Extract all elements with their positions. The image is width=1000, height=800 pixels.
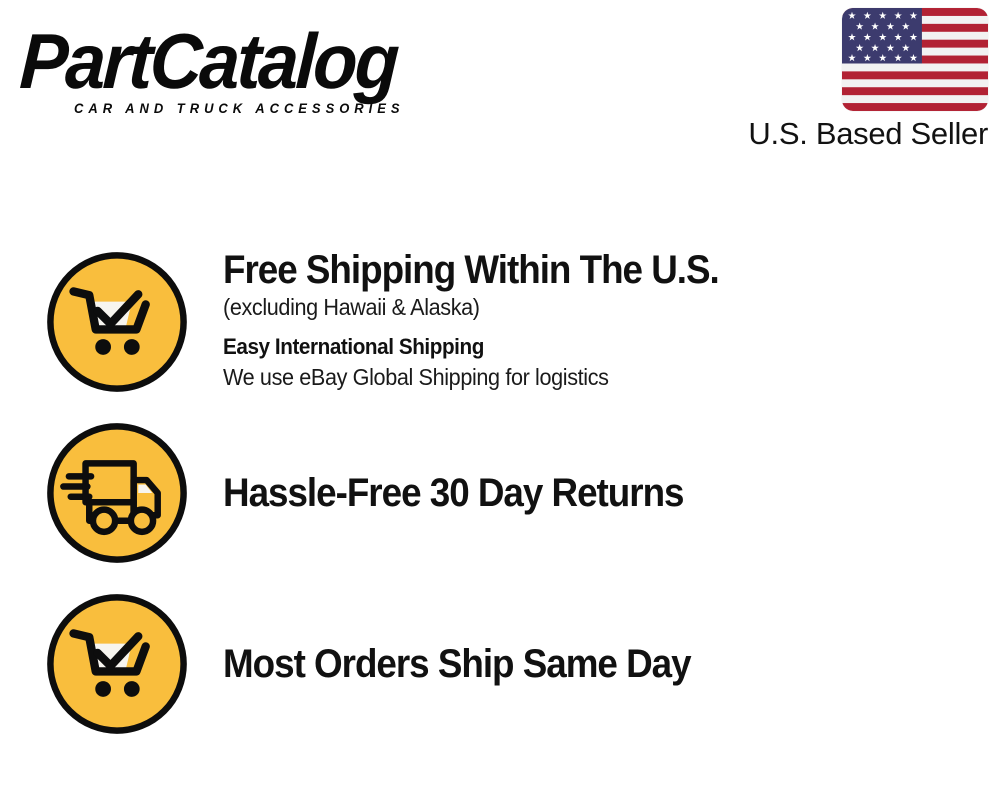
seller-badge-label: U.S. Based Seller: [708, 116, 988, 152]
feature-sub-heading: Easy International Shipping: [223, 331, 937, 362]
us-based-seller-badge: U.S. Based Seller: [708, 8, 988, 152]
shipping-info-banner: PartCatalog CAR AND TRUCK ACCESSORIES: [0, 0, 1000, 800]
brand-wordmark: PartCatalog: [18, 22, 459, 100]
feature-title: Most Orders Ship Same Day: [223, 642, 922, 686]
feature-row: Free Shipping Within The U.S. (excluding…: [43, 248, 983, 396]
spacer: [223, 322, 983, 331]
delivery-truck-icon: [43, 419, 191, 567]
brand-logo[interactable]: PartCatalog CAR AND TRUCK ACCESSORIES: [22, 22, 492, 117]
feature-text-block: Most Orders Ship Same Day: [191, 590, 983, 738]
feature-subtitle: (excluding Hawaii & Alaska): [223, 292, 937, 322]
feature-sub-detail: We use eBay Global Shipping for logistic…: [223, 362, 937, 392]
feature-row: Hassle-Free 30 Day Returns: [43, 419, 983, 567]
feature-text-block: Hassle-Free 30 Day Returns: [191, 419, 983, 567]
feature-title: Hassle-Free 30 Day Returns: [223, 471, 922, 515]
feature-title: Free Shipping Within The U.S.: [223, 248, 922, 292]
us-flag-icon: [842, 8, 988, 111]
shopping-cart-check-icon: [43, 590, 191, 738]
feature-row: Most Orders Ship Same Day: [43, 590, 983, 738]
feature-text-block: Free Shipping Within The U.S. (excluding…: [191, 248, 983, 392]
shopping-cart-check-icon: [43, 248, 191, 396]
brand-tagline: CAR AND TRUCK ACCESSORIES: [74, 101, 475, 116]
